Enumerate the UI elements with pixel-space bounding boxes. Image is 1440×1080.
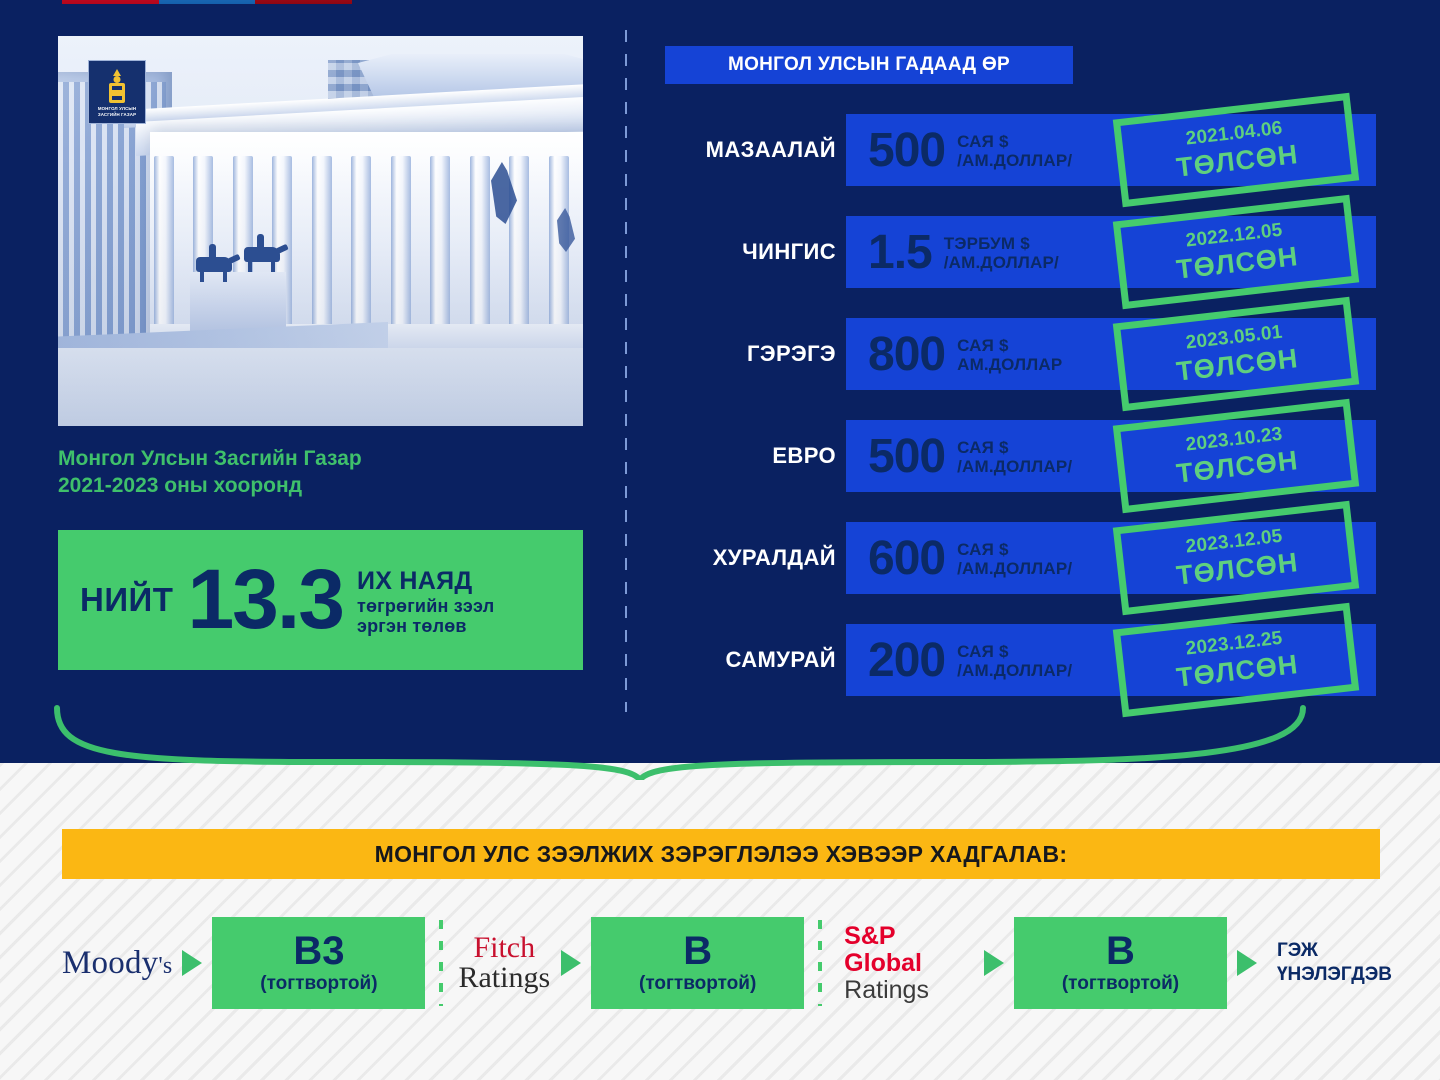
credit-rating-section: МОНГОЛ УЛС ЗЭЭЛЖИХ ЗЭРЭГЛЭЛЭЭ ХЭВЭЭР ХАД…: [0, 763, 1440, 1080]
left-column: МОНГОЛ УЛСЫН ЗАСГИЙН ГАЗАР Монгол Улсын …: [58, 36, 583, 670]
bond-currency: САЯ $: [957, 540, 1072, 559]
arrow-right-icon: [1237, 950, 1257, 976]
bond-currency: САЯ $: [957, 132, 1072, 151]
bond-amount: 500: [868, 429, 945, 484]
bond-unit: САЯ $ /АМ.ДОЛЛАР/: [957, 130, 1072, 171]
final-note-line-1: ГЭЖ: [1277, 940, 1318, 961]
total-unit-line-1: ИХ НАЯД: [357, 567, 494, 595]
government-palace-photo: МОНГОЛ УЛСЫН ЗАСГИЙН ГАЗАР: [58, 36, 583, 426]
bond-denomination: /АМ.ДОЛЛАР/: [957, 559, 1072, 578]
total-number: 13.3: [187, 564, 343, 635]
flag-stripe-red-right: [255, 0, 352, 4]
rating-outlook: (тогтвортой): [1062, 973, 1179, 995]
caption-line-1: Монгол Улсын Засгийн Газар: [58, 447, 362, 470]
sp-rating-box: B (тогтвортой): [1014, 917, 1227, 1009]
bond-row: МАЗААЛАЙ 500 САЯ $ /АМ.ДОЛЛАР/ 2021.04.0…: [665, 114, 1425, 186]
total-unit-line-2: төгрөгийн зээл: [357, 596, 494, 616]
paid-stamp: 2023.12.05 ТӨЛСӨН: [1113, 501, 1359, 615]
bond-row: ЕВРО 500 САЯ $ /АМ.ДОЛЛАР/ 2023.10.23 ТӨ…: [665, 420, 1425, 492]
paid-stamp: 2023.10.23 ТӨЛСӨН: [1113, 399, 1359, 513]
rating-outlook: (тогтвортой): [260, 973, 377, 995]
rating-grade: B: [1106, 931, 1135, 971]
government-emblem-badge: МОНГОЛ УЛСЫН ЗАСГИЙН ГАЗАР: [88, 60, 146, 124]
bond-amount: 800: [868, 327, 945, 382]
rating-grade: B: [683, 931, 712, 971]
moodys-rating-box: B3 (тогтвортой): [212, 917, 425, 1009]
emblem-line-2: ЗАСГИЙН ГАЗАР: [98, 112, 136, 117]
fitch-logo-line-1: Fitch: [457, 933, 551, 963]
moodys-logo: Moody's: [62, 945, 172, 982]
bond-name: ЧИНГИС: [665, 216, 840, 288]
bond-row: ХУРАЛДАЙ 600 САЯ $ /АМ.ДОЛЛАР/ 2023.12.0…: [665, 522, 1425, 594]
bond-currency: САЯ $: [957, 336, 1062, 355]
bond-amount: 600: [868, 531, 945, 586]
bond-name: МАЗААЛАЙ: [665, 114, 840, 186]
flag-stripe-red-left: [62, 0, 159, 4]
photo-caption: Монгол Улсын Засгийн Газар 2021-2023 оны…: [58, 446, 583, 500]
moodys-logo-text: Moody: [62, 945, 158, 981]
fitch-logo: Fitch Ratings: [457, 933, 551, 993]
soyombo-icon: [108, 69, 126, 103]
bond-currency: САЯ $: [957, 438, 1072, 457]
arrow-right-icon: [182, 950, 202, 976]
arrow-right-icon: [984, 950, 1004, 976]
bond-amount: 1.5: [868, 225, 932, 280]
bond-name: ХУРАЛДАЙ: [665, 522, 840, 594]
bond-row: ГЭРЭГЭ 800 САЯ $ АМ.ДОЛЛАР 2023.05.01 ТӨ…: [665, 318, 1425, 390]
vertical-dashed-divider: [625, 30, 627, 712]
bond-denomination: /АМ.ДОЛЛАР/: [957, 457, 1072, 476]
bond-unit: ТЭРБУМ $ /АМ.ДОЛЛАР/: [944, 232, 1059, 273]
fitch-rating-box: B (тогтвортой): [591, 917, 804, 1009]
total-unit-line-3: эргэн төлөв: [357, 616, 494, 636]
green-brace-divider: [0, 640, 1440, 780]
fitch-logo-line-2: Ratings: [457, 963, 551, 993]
arrow-right-icon: [561, 950, 581, 976]
bond-amount: 500: [868, 123, 945, 178]
paid-stamp: 2023.05.01 ТӨЛСӨН: [1113, 297, 1359, 411]
bond-list: МАЗААЛАЙ 500 САЯ $ /АМ.ДОЛЛАР/ 2021.04.0…: [665, 114, 1425, 696]
bond-row: ЧИНГИС 1.5 ТЭРБУМ $ /АМ.ДОЛЛАР/ 2022.12.…: [665, 216, 1425, 288]
dotted-separator: [439, 920, 443, 1006]
paid-stamp: 2022.12.05 ТӨЛСӨН: [1113, 195, 1359, 309]
ratings-row: Moody's B3 (тогтвортой) Fitch Ratings B …: [62, 908, 1392, 1018]
total-label: НИЙТ: [80, 581, 173, 619]
bond-unit: САЯ $ /АМ.ДОЛЛАР/: [957, 538, 1072, 579]
moodys-logo-suffix: 's: [158, 953, 172, 979]
bond-name: ГЭРЭГЭ: [665, 318, 840, 390]
bond-unit: САЯ $ /АМ.ДОЛЛАР/: [957, 436, 1072, 477]
final-note-line-2: ҮНЭЛЭГДЭВ: [1277, 964, 1392, 985]
external-debt-title: МОНГОЛ УЛСЫН ГАДААД ӨР: [665, 46, 1073, 84]
rating-outlook: (тогтвортой): [639, 973, 756, 995]
flag-stripe-blue: [159, 0, 256, 4]
bond-denomination: АМ.ДОЛЛАР: [957, 355, 1062, 374]
right-column: МОНГОЛ УЛСЫН ГАДААД ӨР МАЗААЛАЙ 500 САЯ …: [665, 46, 1425, 726]
bond-denomination: /АМ.ДОЛЛАР/: [944, 253, 1059, 272]
dotted-separator: [818, 920, 822, 1006]
bond-denomination: /АМ.ДОЛЛАР/: [957, 151, 1072, 170]
rating-grade: B3: [293, 931, 344, 971]
bond-name: ЕВРО: [665, 420, 840, 492]
mongolian-flag-ribbon: [62, 0, 352, 4]
bond-unit: САЯ $ АМ.ДОЛЛАР: [957, 334, 1062, 375]
caption-line-2: 2021-2023 оны хооронд: [58, 474, 302, 497]
sp-global-logo: S&P Global Ratings: [836, 923, 974, 1004]
bond-currency: ТЭРБУМ $: [944, 234, 1059, 253]
total-unit: ИХ НАЯД төгрөгийн зээл эргэн төлөв: [357, 563, 494, 636]
emblem-line-1: МОНГОЛ УЛСЫН: [98, 106, 136, 111]
sp-logo-line-1: S&P Global: [844, 923, 974, 977]
paid-stamp: 2021.04.06 ТӨЛСӨН: [1113, 93, 1359, 207]
final-note: ГЭЖ ҮНЭЛЭГДЭВ: [1277, 939, 1392, 987]
sp-logo-line-2: Ratings: [844, 977, 974, 1004]
emblem-text: МОНГОЛ УЛСЫН ЗАСГИЙН ГАЗАР: [98, 106, 136, 119]
rating-banner: МОНГОЛ УЛС ЗЭЭЛЖИХ ЗЭРЭГЛЭЛЭЭ ХЭВЭЭР ХАД…: [62, 829, 1380, 879]
